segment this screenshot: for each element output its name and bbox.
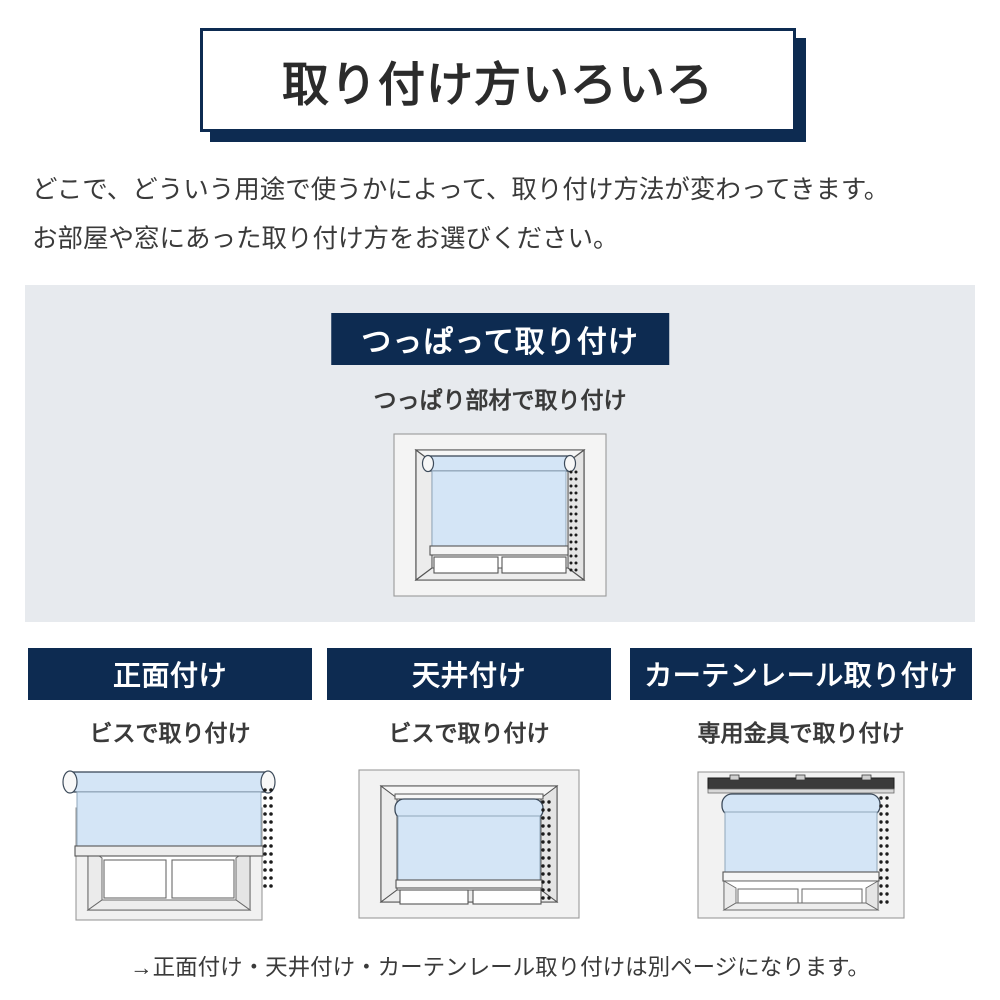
method-badge-label: カーテンレール取り付け <box>644 654 958 694</box>
primary-method-badge-label: つっぱって取り付け <box>361 317 639 361</box>
method-badge-ceiling-mount: 天井付け <box>327 648 611 700</box>
curtain-rail-mount-window-illustration <box>672 760 930 925</box>
page-title: 取り付け方いろいろ <box>282 46 714 115</box>
method-badge-curtain-rail-mount: カーテンレール取り付け <box>630 648 972 700</box>
lead-line-1: どこで、どういう用途で使うかによって、取り付け方法が変わってきます。 <box>32 166 972 215</box>
front-mount-window-illustration <box>46 760 294 925</box>
secondary-methods-row: 正面付け ビスで取り付け <box>0 648 1000 938</box>
method-badge-front-mount: 正面付け <box>28 648 312 700</box>
primary-method-subtitle: つっぱり部材で取り付け <box>374 381 627 415</box>
method-subtitle: ビスで取り付け <box>28 714 312 748</box>
primary-method-badge: つっぱって取り付け <box>331 313 669 365</box>
title-box: 取り付け方いろいろ <box>200 28 796 132</box>
lead-paragraph: どこで、どういう用途で使うかによって、取り付け方法が変わってきます。 お部屋や窓… <box>32 166 972 264</box>
tension-mount-window-illustration <box>390 430 610 600</box>
footnote: →正面付け・天井付け・カーテンレール取り付けは別ページになります。 <box>0 950 1000 982</box>
page-title-block: 取り付け方いろいろ <box>200 28 796 132</box>
method-card-ceiling-mount[interactable]: 天井付け ビスで取り付け <box>327 648 611 925</box>
infographic-page: 取り付け方いろいろ どこで、どういう用途で使うかによって、取り付け方法が変わって… <box>0 0 1000 1000</box>
method-subtitle: ビスで取り付け <box>327 714 611 748</box>
method-subtitle: 専用金具で取り付け <box>630 714 972 748</box>
method-badge-label: 正面付け <box>113 654 227 694</box>
method-card-front-mount[interactable]: 正面付け ビスで取り付け <box>28 648 312 925</box>
primary-method-panel: つっぱって取り付け つっぱり部材で取り付け <box>25 285 975 622</box>
ceiling-mount-window-illustration <box>345 760 593 925</box>
lead-line-2: お部屋や窓にあった取り付け方をお選びください。 <box>32 215 972 264</box>
method-card-curtain-rail-mount[interactable]: カーテンレール取り付け 専用金具で取り付け <box>630 648 972 925</box>
method-badge-label: 天井付け <box>412 654 526 694</box>
